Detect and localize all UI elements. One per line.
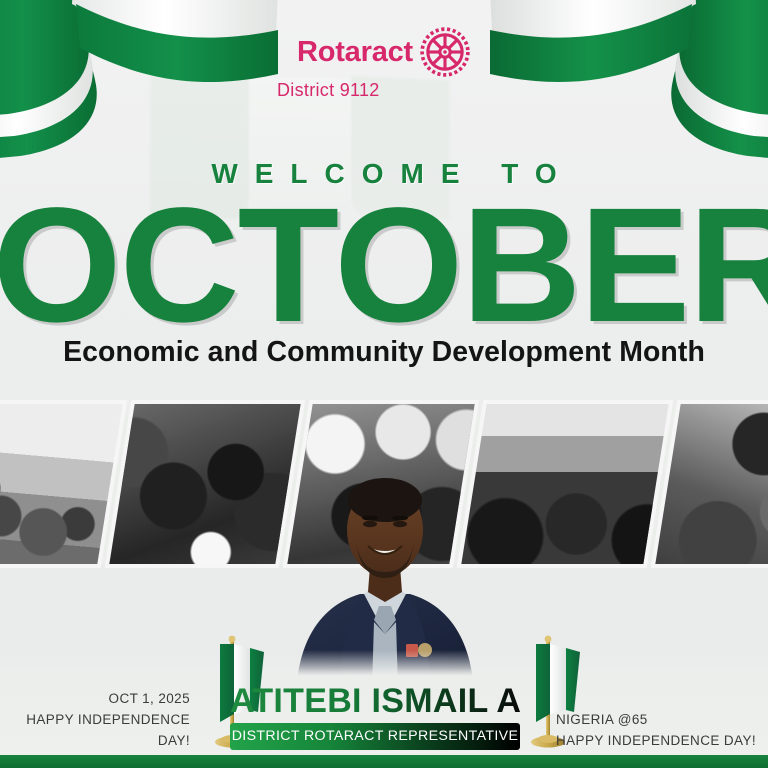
month-theme-subtitle: Economic and Community Development Month xyxy=(8,336,761,369)
poster-canvas: Rotaract xyxy=(0,0,768,768)
footer-green-bar xyxy=(0,755,768,768)
brand-district: District 9112 xyxy=(269,80,499,101)
honoree-role-badge: DISTRICT ROTARACT REPRESENTATIVE xyxy=(230,723,520,750)
right-note-title: NIGERIA @65 xyxy=(556,710,756,731)
honoree-block: ATITEBI ISMAIL A. PHF DISTRICT ROTARACT … xyxy=(230,684,520,750)
right-note: NIGERIA @65 HAPPY INDEPENDENCE DAY! xyxy=(556,710,756,752)
rotary-wheel-icon xyxy=(419,26,471,78)
left-note: OCT 1, 2025 HAPPY INDEPENDENCE DAY! xyxy=(18,689,190,752)
headline-block: WELCOME TO OCTOBER Economic and Communit… xyxy=(0,160,768,369)
nigeria-ribbon-flag-left xyxy=(0,0,306,160)
farmer-with-basket-photo xyxy=(655,404,768,564)
rotaract-logo: Rotaract xyxy=(269,26,499,101)
left-note-date: OCT 1, 2025 xyxy=(18,689,190,710)
bottom-band: OCT 1, 2025 HAPPY INDEPENDENCE DAY! xyxy=(0,650,768,768)
brand-name: Rotaract xyxy=(297,38,413,67)
logo-row: Rotaract xyxy=(269,26,499,78)
nigeria-ribbon-flag-right xyxy=(462,0,768,160)
month-title: OCTOBER xyxy=(0,190,768,340)
right-note-message: HAPPY INDEPENDENCE DAY! xyxy=(556,731,756,752)
left-note-message: HAPPY INDEPENDENCE DAY! xyxy=(18,710,190,752)
celebrating-crowd-photo xyxy=(461,404,668,564)
honoree-name: ATITEBI ISMAIL A. PHF xyxy=(230,684,520,718)
office-training-photo xyxy=(0,404,123,564)
smiling-children-photo xyxy=(109,404,300,564)
